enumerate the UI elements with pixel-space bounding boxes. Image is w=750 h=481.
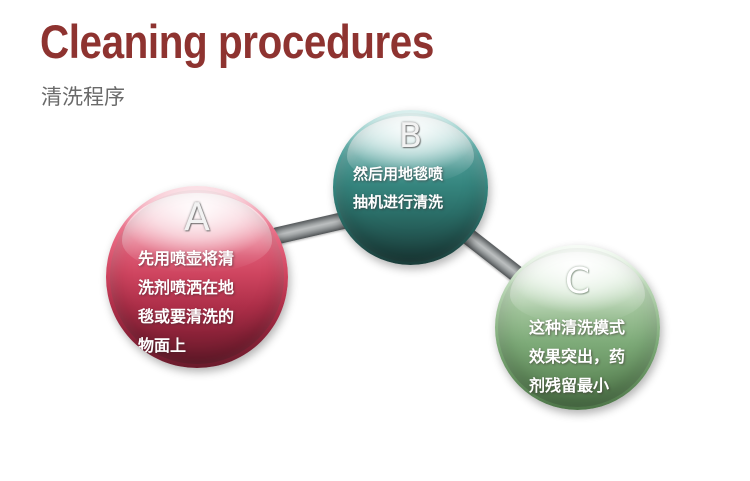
sphere-gloss-highlight: [122, 193, 271, 273]
node-letter-c: C: [495, 263, 660, 301]
sphere-gloss-highlight: [510, 252, 645, 325]
sphere-rim-shading: [336, 113, 485, 262]
sphere-rim-shading: [498, 248, 656, 406]
process-node-b[interactable]: B 然后用地毯喷 抽机进行清洗: [333, 110, 488, 265]
sphere-gloss-highlight: [347, 116, 474, 184]
node-text-a: 先用喷壶将清 洗剂喷洒在地 毯或要清洗的 物面上: [138, 244, 274, 360]
process-node-c[interactable]: C 这种清洗模式 效果突出，药 剂残留最小: [495, 245, 660, 410]
node-letter-b: B: [333, 118, 488, 154]
node-text-c: 这种清洗模式 效果突出，药 剂残留最小: [529, 313, 655, 400]
node-text-b: 然后用地毯喷 抽机进行清洗: [353, 160, 475, 216]
slide-canvas: Cleaning procedures 清洗程序 A 先用喷壶将清 洗剂喷洒在地…: [0, 0, 750, 481]
process-node-a[interactable]: A 先用喷壶将清 洗剂喷洒在地 毯或要清洗的 物面上: [106, 186, 288, 368]
node-letter-a: A: [106, 197, 288, 237]
page-subtitle: 清洗程序: [41, 83, 125, 111]
page-title: Cleaning procedures: [40, 17, 434, 67]
sphere-rim-shading: [110, 190, 285, 365]
